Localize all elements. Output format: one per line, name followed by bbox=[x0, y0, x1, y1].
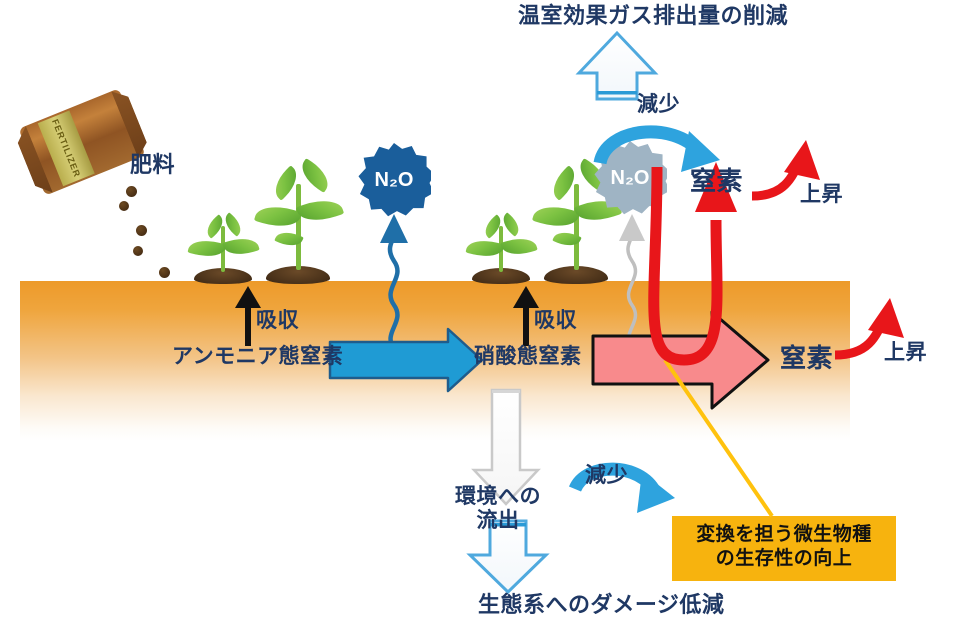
absorption-label-right: 吸収 bbox=[534, 309, 577, 333]
ammonium-nitrogen-label: アンモニア態窒素 bbox=[172, 345, 343, 369]
ghg-reduction-arrow bbox=[579, 33, 655, 99]
n2o-emission-arrow-right bbox=[619, 214, 645, 349]
nitrogen-soil-label: 窒素 bbox=[780, 344, 833, 374]
rise-label-upper: 上昇 bbox=[800, 183, 843, 207]
environment-outflow-label: 環境への 流出 bbox=[455, 485, 541, 533]
ammonium-to-nitrate-arrow bbox=[330, 329, 482, 391]
decrease-label-bottom: 減少 bbox=[585, 464, 628, 488]
diagram-canvas: FERTILIZER 肥料 bbox=[0, 0, 955, 625]
environment-outflow-line-1: 環境への bbox=[455, 485, 541, 509]
decrease-label-top: 減少 bbox=[637, 93, 680, 117]
nitrogen-air-label: 窒素 bbox=[690, 167, 743, 197]
nitrate-nitrogen-label: 硝酸態窒素 bbox=[474, 345, 582, 369]
environment-outflow-line-2: 流出 bbox=[455, 509, 541, 533]
n2o-emission-arrow-left bbox=[380, 214, 408, 349]
ghg-reduction-title: 温室効果ガス排出量の削減 bbox=[518, 3, 788, 28]
ecosystem-damage-label: 生態系へのダメージ低減 bbox=[478, 592, 724, 617]
rise-label-lower: 上昇 bbox=[884, 341, 927, 365]
absorption-label-left: 吸収 bbox=[256, 309, 299, 333]
